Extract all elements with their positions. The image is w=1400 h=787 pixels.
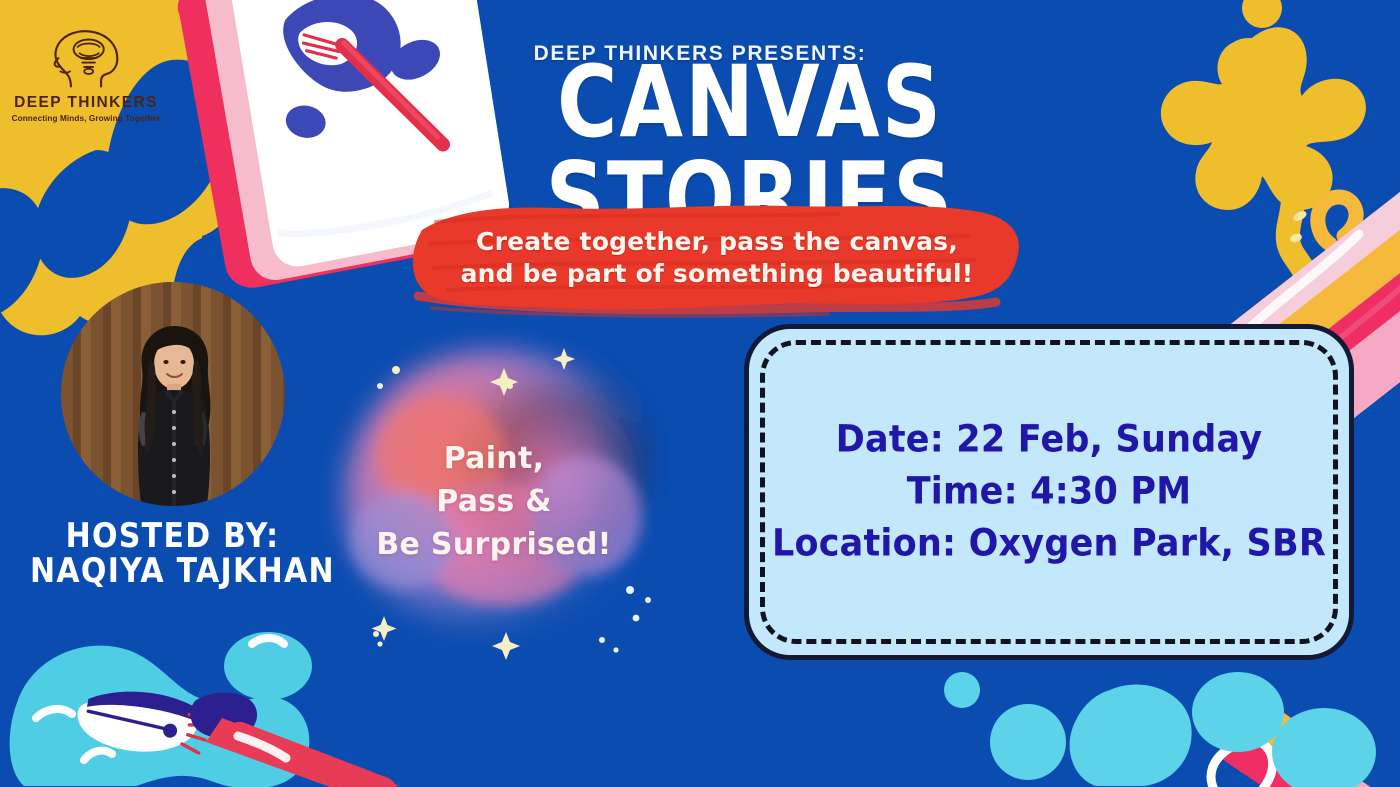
tagline-line-1: Create together, pass the canvas,: [476, 227, 958, 256]
host-name: NAQIYA TAJKHAN: [30, 552, 315, 591]
avatar: [61, 282, 285, 506]
detail-location: Location: Oxygen Park, SBR: [772, 523, 1326, 565]
event-poster: DEEP THINKERS Connecting Minds, Growing …: [0, 0, 1400, 787]
tagline-text-block: Create together, pass the canvas, and be…: [408, 196, 1026, 318]
logo-wordmark: DEEP THINKERS: [6, 94, 166, 112]
hosted-by-label: HOSTED BY:: [30, 518, 315, 557]
blob-line-1: Paint,: [444, 441, 545, 476]
detail-time: Time: 4:30 PM: [907, 471, 1192, 513]
host-caption: HOSTED BY: NAQIYA TAJKHAN: [30, 520, 315, 589]
detail-date: Date: 22 Feb, Sunday: [836, 419, 1262, 461]
blob-line-2: Pass &: [436, 484, 552, 519]
blob-line-3: Be Surprised!: [376, 527, 611, 562]
tagline-banner: Create together, pass the canvas, and be…: [408, 196, 1026, 318]
tagline-line-2: and be part of something beautiful!: [461, 259, 974, 288]
event-details-card: Date: 22 Feb, Sunday Time: 4:30 PM Locat…: [744, 324, 1354, 660]
event-details-list: Date: 22 Feb, Sunday Time: 4:30 PM Locat…: [760, 340, 1338, 644]
watercolor-blob-callout: Paint, Pass & Be Surprised!: [318, 328, 670, 668]
blob-text-block: Paint, Pass & Be Surprised!: [318, 328, 670, 668]
logo-tagline: Connecting Minds, Growing Together: [6, 114, 166, 123]
host-portrait-photo: [98, 320, 248, 506]
host-section: HOSTED BY: NAQIYA TAJKHAN: [30, 282, 315, 589]
